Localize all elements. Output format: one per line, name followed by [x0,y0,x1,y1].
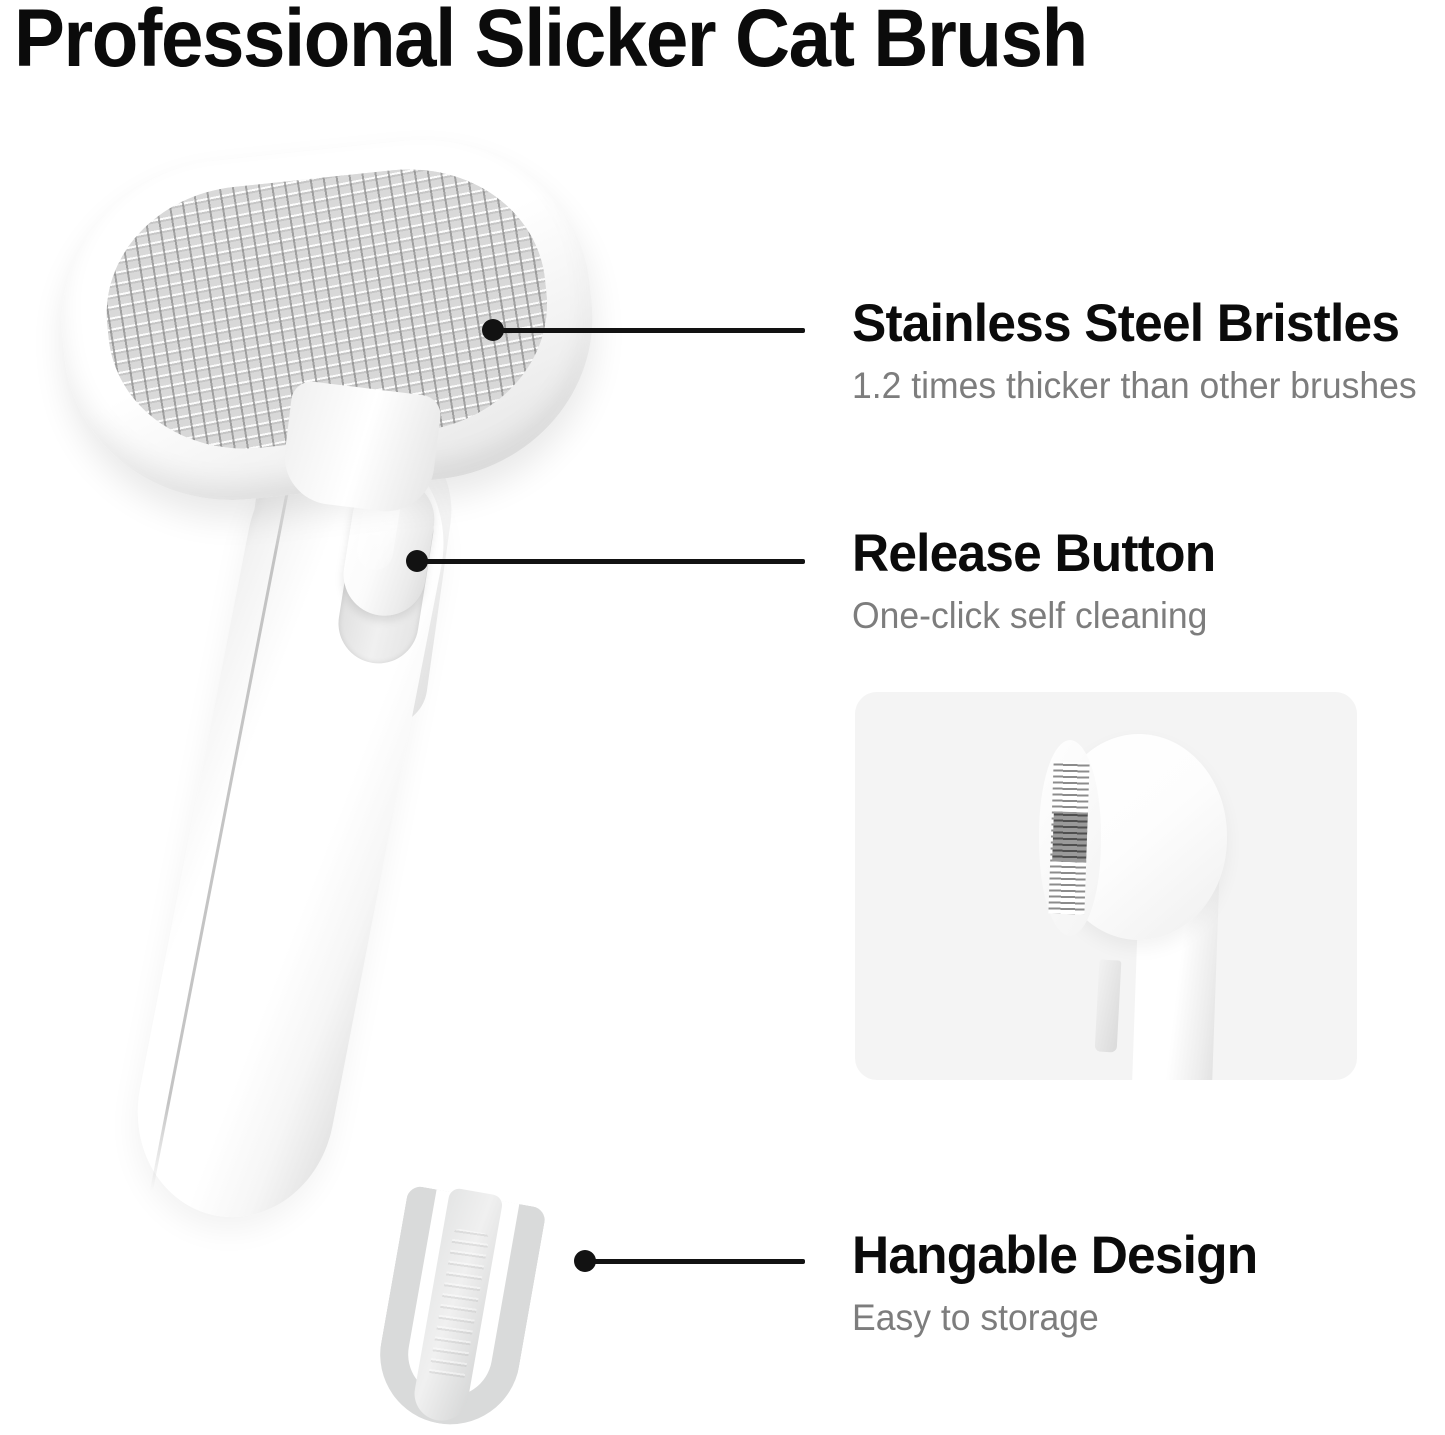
feature-subtitle-hangable: Easy to storage [852,1298,1428,1339]
feature-subtitle-bristles: 1.2 times thicker than other brushes [852,366,1428,407]
inset-release-tab [1095,959,1122,1052]
feature-block-release-button: Release Button One-click self cleaning [852,526,1445,636]
feature-subtitle-release-button: One-click self cleaning [852,596,1428,637]
feature-block-hangable: Hangable Design Easy to storage [852,1228,1445,1338]
page-title: Professional Slicker Cat Brush [14,0,1087,86]
inset-bristles-shadow [1052,811,1088,862]
callout-line-bristles [493,328,805,333]
product-illustration [0,120,830,1425]
feature-title-hangable: Hangable Design [852,1228,1434,1284]
feature-title-release-button: Release Button [852,526,1434,582]
feature-title-bristles: Stainless Steel Bristles [852,296,1434,352]
callout-line-release-button [417,559,805,564]
callout-line-hang-loop [585,1259,805,1264]
feature-block-bristles: Stainless Steel Bristles 1.2 times thick… [852,296,1445,406]
inset-photo-panel [855,692,1357,1080]
